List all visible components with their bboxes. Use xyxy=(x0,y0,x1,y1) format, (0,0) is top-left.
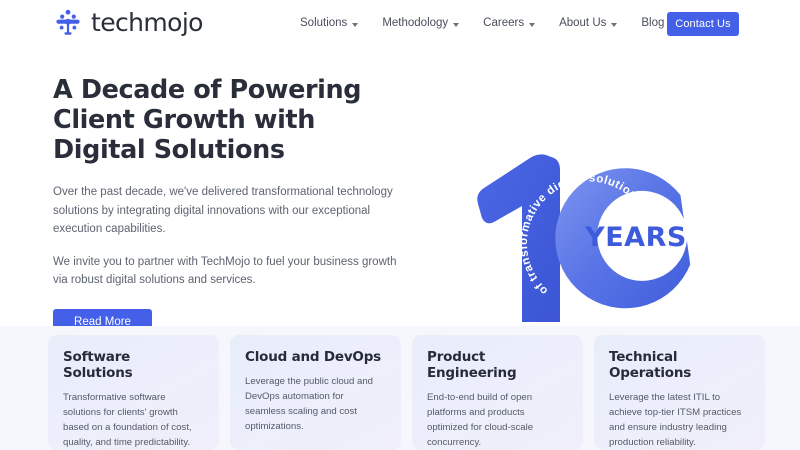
hero-paragraph-2: We invite you to partner with TechMojo t… xyxy=(53,253,398,290)
techmojo-network-tree-icon xyxy=(53,9,83,37)
brand-logo[interactable]: techmojo xyxy=(53,9,203,37)
hero-section: A Decade of Powering Client Growth with … xyxy=(0,48,800,326)
brand-name: techmojo xyxy=(91,9,203,37)
service-card-technical-operations[interactable]: Technical Operations Leverage the latest… xyxy=(594,335,765,450)
card-body: Leverage the public cloud and DevOps aut… xyxy=(245,374,386,434)
site-header: techmojo Solutions Methodology Careers A… xyxy=(0,0,800,48)
service-card-cloud-and-devops[interactable]: Cloud and DevOps Leverage the public clo… xyxy=(230,335,401,450)
page-root: techmojo Solutions Methodology Careers A… xyxy=(0,0,800,450)
services-cards-list: Software Solutions Transformative softwa… xyxy=(48,335,765,450)
card-body: Leverage the latest ITIL to achieve top-… xyxy=(609,390,750,450)
nav-item-methodology[interactable]: Methodology xyxy=(382,18,473,30)
nav-item-about-us[interactable]: About Us xyxy=(559,18,631,30)
ten-years-anniversary-graphic: YEARS of transformative digital solution… xyxy=(472,146,708,331)
contact-us-button[interactable]: Contact Us xyxy=(667,12,739,36)
card-title: Technical Operations xyxy=(609,349,750,381)
services-cards-section: Software Solutions Transformative softwa… xyxy=(0,326,800,450)
service-card-product-engineering[interactable]: Product Engineering End-to-end build of … xyxy=(412,335,583,450)
nav-label: Methodology xyxy=(382,18,448,30)
chevron-down-icon xyxy=(529,23,535,27)
page-title: A Decade of Powering Client Growth with … xyxy=(53,75,398,165)
card-body: End-to-end build of open platforms and p… xyxy=(427,390,568,450)
main-navigation: Solutions Methodology Careers About Us B… xyxy=(300,0,699,48)
nav-label: About Us xyxy=(559,18,606,30)
hero-paragraph-1: Over the past decade, we've delivered tr… xyxy=(53,183,398,239)
card-title: Cloud and DevOps xyxy=(245,349,386,365)
hero-copy: A Decade of Powering Client Growth with … xyxy=(53,75,398,336)
nav-label: Careers xyxy=(483,18,524,30)
chevron-down-icon xyxy=(453,23,459,27)
card-body: Transformative software solutions for cl… xyxy=(63,390,204,450)
nav-item-careers[interactable]: Careers xyxy=(483,18,549,30)
card-title: Software Solutions xyxy=(63,349,204,381)
chevron-down-icon xyxy=(352,23,358,27)
nav-label: Solutions xyxy=(300,18,347,30)
card-title: Product Engineering xyxy=(427,349,568,381)
service-card-software-solutions[interactable]: Software Solutions Transformative softwa… xyxy=(48,335,219,450)
nav-label: Blog xyxy=(641,18,664,30)
nav-item-solutions[interactable]: Solutions xyxy=(300,18,372,30)
chevron-down-icon xyxy=(611,23,617,27)
years-label: YEARS xyxy=(584,222,687,253)
